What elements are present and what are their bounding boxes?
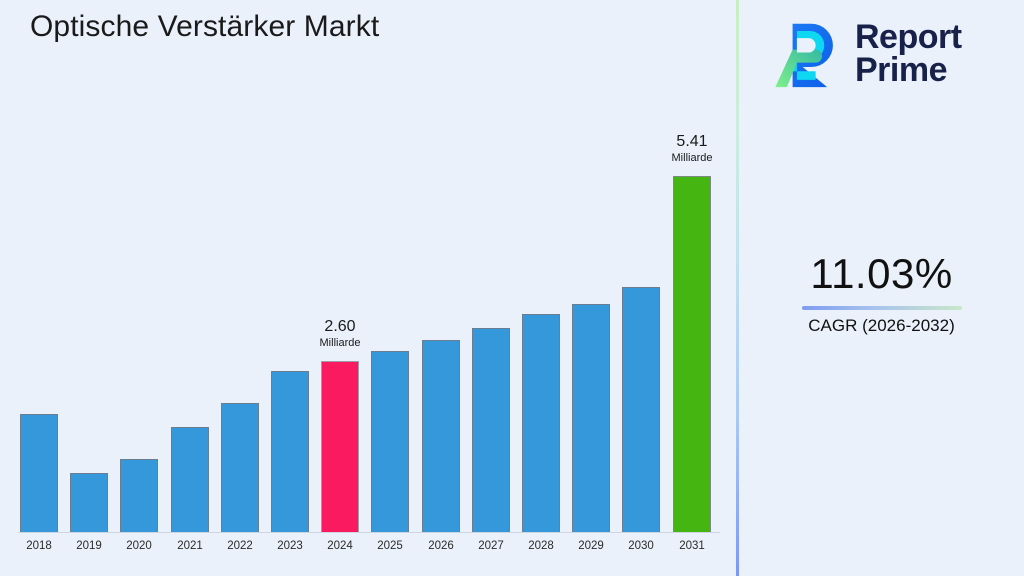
cagr-underline <box>802 306 962 310</box>
bar-2023 <box>271 371 309 532</box>
cagr-value: 11.03% <box>739 250 1024 298</box>
bar-2018 <box>20 414 58 532</box>
summary-panel: Report Prime 11.03% CAGR (2026-2032) <box>739 0 1024 576</box>
infographic-canvas: Optische Verstärker Markt 20182019202020… <box>0 0 1024 576</box>
logo-wordmark: Report Prime <box>855 21 962 88</box>
bar-2030 <box>622 287 660 532</box>
report-prime-logo: Report Prime <box>771 12 1003 96</box>
bar-value-2031: 5.41 <box>632 134 752 151</box>
cagr-block: 11.03% CAGR (2026-2032) <box>739 250 1024 336</box>
logo-line-2: Prime <box>855 51 947 89</box>
cagr-caption: CAGR (2026-2032) <box>739 316 1024 336</box>
bar-2022 <box>221 403 259 532</box>
bar-chart-plot: 20182019202020212022202320242.60Milliard… <box>0 0 737 576</box>
bar-2019 <box>70 473 108 532</box>
x-tick-label-2031: 2031 <box>662 540 722 552</box>
bar-2026 <box>422 340 460 532</box>
bar-2031 <box>673 176 711 532</box>
bar-2025 <box>371 351 409 532</box>
bar-2024 <box>321 361 359 532</box>
chart-panel: Optische Verstärker Markt 20182019202020… <box>0 0 737 576</box>
bar-2029 <box>572 304 610 532</box>
x-axis-line <box>18 532 720 533</box>
bar-unit-2031: Milliarde <box>632 153 752 165</box>
bar-2027 <box>472 328 510 532</box>
bar-2028 <box>522 314 560 532</box>
bar-value-label-2024: 2.60Milliarde <box>280 319 400 349</box>
bar-2020 <box>120 459 158 532</box>
bar-2021 <box>171 427 209 532</box>
bar-value-2024: 2.60 <box>280 319 400 336</box>
logo-line-1: Report <box>855 18 962 56</box>
bar-value-label-2031: 5.41Milliarde <box>632 134 752 164</box>
bar-unit-2024: Milliarde <box>280 338 400 350</box>
report-prime-monogram <box>771 18 843 90</box>
